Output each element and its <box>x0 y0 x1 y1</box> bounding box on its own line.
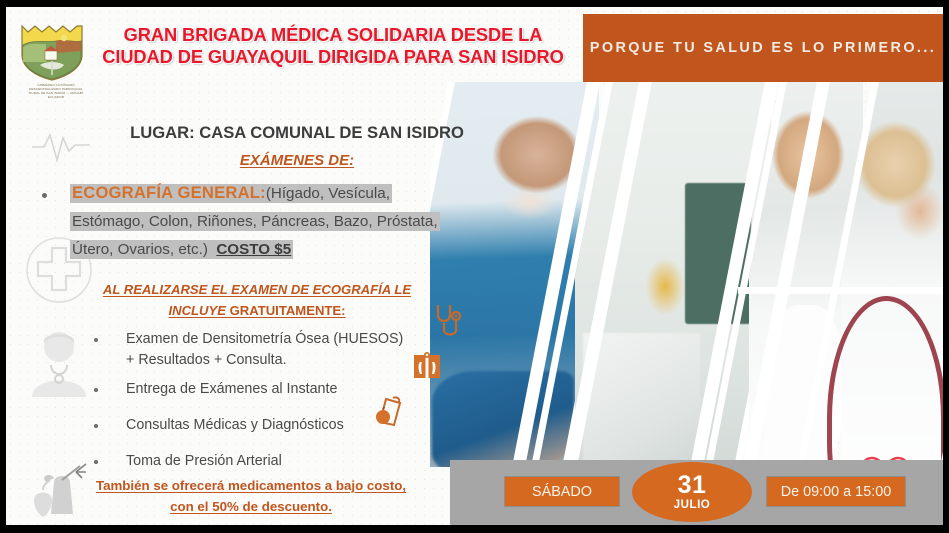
lab-sample-icon <box>374 395 404 434</box>
poster-canvas: Sagrado Corazón GOBIERNO AUTÓNOMO DESCEN… <box>6 7 943 525</box>
ecography-cost: COSTO $5 <box>216 241 291 258</box>
ecography-organs-2: Estómago, Colon, Riñones, Páncreas, Bazo… <box>70 212 440 231</box>
list-item-label: Examen de Densitometría Ósea (HUESOS) + … <box>126 329 424 371</box>
list-item: Examen de Densitometría Ósea (HUESOS) + … <box>94 329 424 371</box>
promo-line-2: con el 50% de descuento. <box>170 499 332 514</box>
date-number: 31 <box>678 473 707 497</box>
includes-header-part2: INCLUYE <box>168 303 225 318</box>
poster-root: Sagrado Corazón GOBIERNO AUTÓNOMO DESCEN… <box>0 0 949 533</box>
promo-note: También se ofrecerá medicamentos a bajo … <box>66 475 436 517</box>
tagline-text: PORQUE TU SALUD ES LO PRIMERO... <box>590 37 936 59</box>
tagline-banner: PORQUE TU SALUD ES LO PRIMERO... <box>583 14 943 82</box>
time-label: De 09:00 a 15:00 <box>781 484 891 500</box>
ecography-block: ECOGRAFÍA GENERAL:(Hígado, Vesícula, Est… <box>70 179 512 264</box>
stethoscope-icon <box>434 302 462 345</box>
photo-divider-horizontal <box>738 287 943 294</box>
date-badge: 31 JULIO <box>632 462 752 522</box>
bullet-dot <box>94 388 98 392</box>
content-column: LUGAR: CASA COMUNAL DE SAN ISIDRO EXÁMEN… <box>6 7 536 525</box>
bullet-dot <box>94 424 98 428</box>
ecography-organs-1: (Hígado, Vesícula, <box>266 185 390 202</box>
bone-density-icon <box>414 352 440 383</box>
includes-header-part1: AL REALIZARSE EL EXAMEN DE ECOGRAFÍA LE <box>103 282 411 297</box>
day-label: SÁBADO <box>532 484 592 500</box>
list-item-label: Toma de Presión Arterial <box>126 451 424 472</box>
bullet-dot <box>42 193 47 198</box>
event-footer-bar: SÁBADO 31 JULIO De 09:00 a 15:00 <box>450 460 943 525</box>
place-line: LUGAR: CASA COMUNAL DE SAN ISIDRO <box>92 123 502 143</box>
ecography-heading: ECOGRAFÍA GENERAL: <box>72 183 266 202</box>
ecography-line-2: Estómago, Colon, Riñones, Páncreas, Bazo… <box>70 208 512 236</box>
ecography-organs-3: Útero, Ovarios, etc.) <box>72 241 208 258</box>
ecography-line-3: Útero, Ovarios, etc.) COSTO $5 <box>70 236 512 264</box>
ecography-line-1: ECOGRAFÍA GENERAL:(Hígado, Vesícula, <box>70 179 512 208</box>
day-chip: SÁBADO <box>504 476 620 507</box>
date-month: JULIO <box>674 498 711 511</box>
exams-header: EXÁMENES DE: <box>92 152 502 169</box>
bullet-dot <box>94 460 98 464</box>
includes-header-part3: GRATUITAMENTE: <box>226 303 346 318</box>
promo-line-1: También se ofrecerá medicamentos a bajo … <box>96 478 406 493</box>
bullet-dot <box>94 338 98 342</box>
time-chip: De 09:00 a 15:00 <box>766 476 906 507</box>
includes-header: AL REALIZARSE EL EXAMEN DE ECOGRAFÍA LE … <box>82 279 432 321</box>
